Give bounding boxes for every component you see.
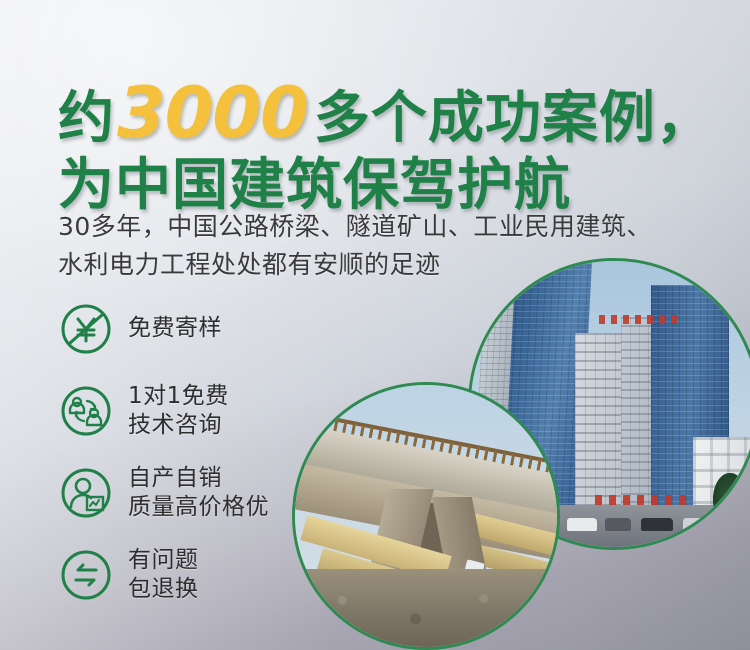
vehicle [683,518,709,531]
rooftop-sign [599,315,677,324]
feature-line-2: 技术咨询 [128,411,229,440]
headline-line-1: 约3000多个成功案例， [58,78,713,148]
return-exchange-icon [58,547,114,603]
feature-line-1: 免费寄样 [128,314,222,343]
feature-list: 免费寄样 1对1免费 技术咨询 [58,298,328,626]
feature-item-consult: 1对1免费 技术咨询 [58,380,328,442]
facade-sign [595,495,691,505]
headline-line-2: 为中国建筑保驾护航 [58,158,713,214]
headline-number: 3000 [115,72,314,154]
feature-line-1: 自产自销 [128,464,269,493]
feature-line-1: 有问题 [128,546,199,575]
feature-label-direct-sales: 自产自销 质量高价格优 [128,464,269,523]
bridge-photo [292,382,560,650]
vehicle [641,518,673,531]
one-on-one-consult-icon [58,383,114,439]
vehicle [605,518,631,531]
free-sample-icon [58,301,114,357]
feature-label-return-exchange: 有问题 包退换 [128,546,199,605]
headline: 约3000多个成功案例， 为中国建筑保驾护航 [58,78,713,214]
headline-suffix: 多个成功案例， [314,86,713,151]
feature-line-2: 质量高价格优 [128,493,269,522]
headline-prefix: 约 [58,86,115,151]
vehicle [567,518,597,531]
feature-item-direct-sales: 自产自销 质量高价格优 [58,462,328,524]
feature-label-free-sample: 免费寄样 [128,314,222,343]
feature-line-1: 1对1免费 [128,382,229,411]
promo-banner: 约3000多个成功案例， 为中国建筑保驾护航 30多年，中国公路桥梁、隧道矿山、… [0,0,750,650]
feature-line-2: 包退换 [128,575,199,604]
feature-label-consult: 1对1免费 技术咨询 [128,382,229,441]
direct-sales-icon [58,465,114,521]
bridge-scene [295,385,557,647]
ground-rubble [295,569,557,647]
tree [713,473,747,521]
feature-item-return-exchange: 有问题 包退换 [58,544,328,606]
subtitle-line-1: 30多年，中国公路桥梁、隧道矿山、工业民用建筑、 [58,208,652,246]
feature-item-free-sample: 免费寄样 [58,298,328,360]
